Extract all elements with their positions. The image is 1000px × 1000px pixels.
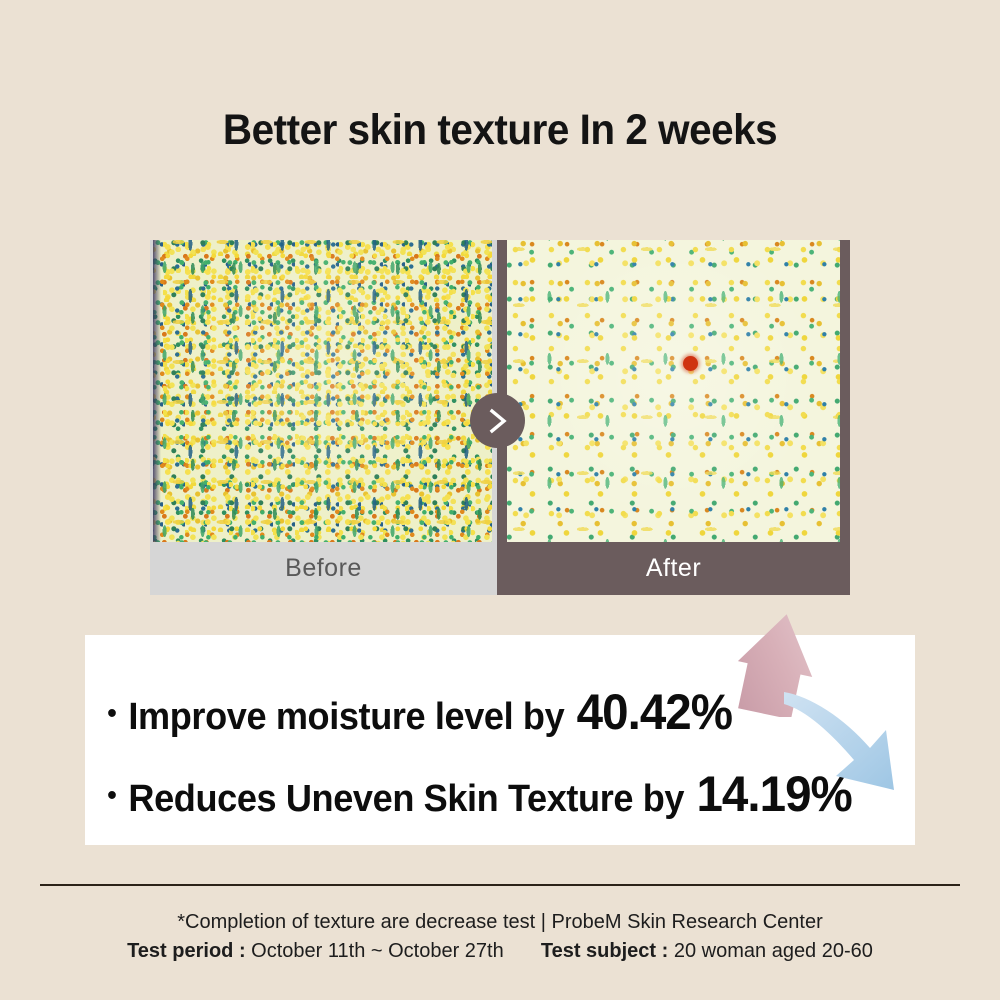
test-period-value: October 11th ~ October 27th [251,940,504,962]
test-period-label: Test period : [127,940,246,962]
image-veil [153,240,492,542]
arrow-down-icon [782,690,917,805]
image-edge-shadow [153,240,161,542]
image-veil [507,240,840,542]
test-subject-label: Test subject : [541,940,668,962]
before-panel: Before [150,240,497,595]
result-item-moisture: • Improve moisture level by 40.42% [107,683,732,741]
after-label: After [497,542,850,595]
footnote-source: *Completion of texture are decrease test… [0,911,1000,934]
result-text: Improve moisture level by [128,696,564,739]
result-value: 40.42% [577,683,732,741]
chevron-right-icon [470,393,525,448]
after-skin-image [507,240,840,542]
before-after-comparison: Before After [150,240,850,595]
after-panel: After [497,240,850,595]
result-text: Reduces Uneven Skin Texture by [128,778,684,821]
bullet-icon: • [107,699,117,729]
red-spot-marker [683,356,698,371]
result-item-texture: • Reduces Uneven Skin Texture by 14.19% [107,765,852,823]
before-label: Before [150,542,497,595]
before-skin-image [153,240,492,542]
test-subject-value: 20 woman aged 20-60 [674,940,873,962]
infographic-page: Better skin texture In 2 weeks Before Af… [0,0,1000,1000]
page-title: Better skin texture In 2 weeks [30,106,970,155]
bullet-icon: • [107,781,117,811]
footnote-details: Test period : October 11th ~ October 27t… [0,940,1000,963]
footer-divider [40,884,960,886]
